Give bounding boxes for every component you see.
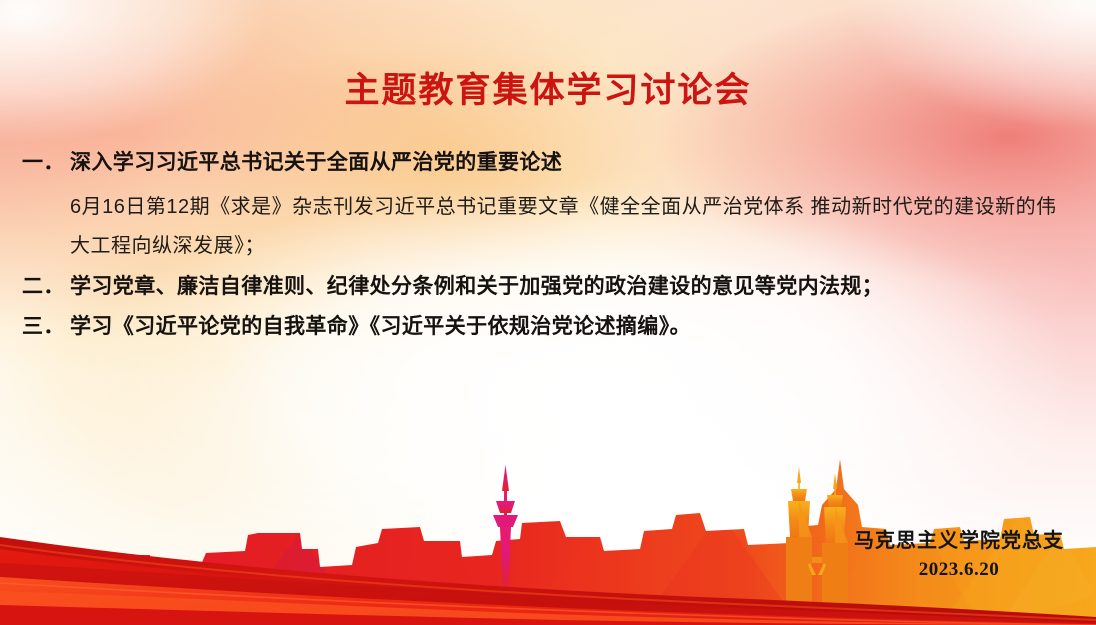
agenda-text-1-detail: 6月16日第12期《求是》杂志刊发习近平总书记重要文章《健全全面从严治党体系 推… (70, 188, 1077, 266)
agenda-item-2: 二． 学习党章、廉洁自律准则、纪律处分条例和关于加强党的政治建设的意见等党内法规… (22, 272, 1077, 302)
agenda-text-1: 深入学习习近平总书记关于全面从严治党的重要论述 (70, 148, 1077, 178)
agenda-item-3: 三． 学习《习近平论党的自我革命》《习近平关于依规治党论述摘编》。 (22, 312, 1077, 342)
agenda-marker-3: 三． (22, 312, 70, 342)
agenda-text-2: 学习党章、廉洁自律准则、纪律处分条例和关于加强党的政治建设的意见等党内法规； (70, 272, 1077, 302)
signature-date: 2023.6.20 (854, 559, 1064, 581)
slide-title: 主题教育集体学习讨论会 (0, 62, 1096, 113)
signature-organization: 马克思主义学院党总支 (854, 524, 1064, 553)
agenda-marker-1: 一． (22, 148, 70, 178)
agenda-item-1: 一． 深入学习习近平总书记关于全面从严治党的重要论述 (22, 148, 1077, 178)
agenda-item-1-detail: 6月16日第12期《求是》杂志刊发习近平总书记重要文章《健全全面从严治党体系 推… (22, 188, 1077, 266)
agenda-marker-2: 二． (22, 272, 70, 302)
agenda-text-3: 学习《习近平论党的自我革命》《习近平关于依规治党论述摘编》。 (70, 312, 1077, 342)
signature-block: 马克思主义学院党总支 2023.6.20 (854, 524, 1064, 581)
presentation-slide: 主题教育集体学习讨论会 一． 深入学习习近平总书记关于全面从严治党的重要论述 6… (0, 0, 1096, 625)
slide-body: 一． 深入学习习近平总书记关于全面从严治党的重要论述 6月16日第12期《求是》… (22, 148, 1077, 351)
